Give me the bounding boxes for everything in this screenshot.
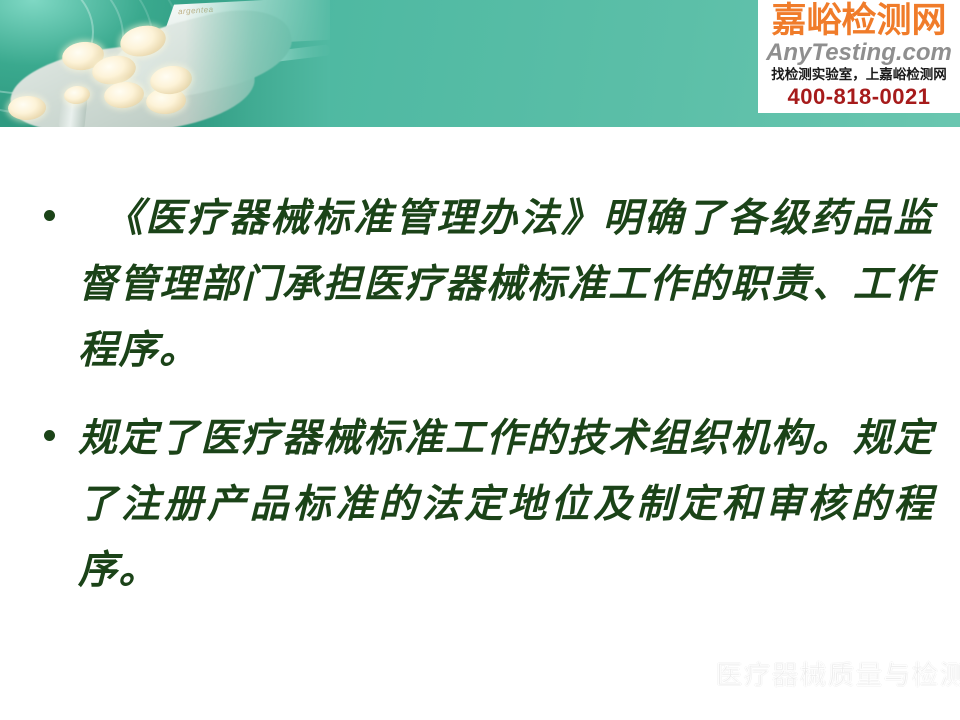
logo-phone-number: 400-818-0021	[758, 85, 960, 109]
logo-tagline: 找检测实验室，上嘉峪检测网	[758, 67, 960, 84]
bullet-list-item: 规定了医疗器械标准工作的技术组织机构。规定了注册产品标准的法定地位及制定和审核的…	[44, 406, 934, 604]
bullet-paragraph-text: 《医疗器械标准管理办法》明确了各级药品监督管理部门承担医疗器械标准工作的职责、工…	[78, 186, 934, 384]
bullet-marker-icon	[44, 406, 78, 446]
bullet-paragraph-text: 规定了医疗器械标准工作的技术组织机构。规定了注册产品标准的法定地位及制定和审核的…	[78, 406, 934, 604]
anytesting-logo-box[interactable]: 嘉峪检测网 AnyTesting.com 找检测实验室，上嘉峪检测网 400-8…	[758, 0, 960, 113]
bullet-marker-icon	[44, 186, 78, 226]
wechat-watermark: 医疗器械质量与检测	[662, 655, 960, 692]
slide-canvas: argentea 嘉峪检测网 AnyTesting.com 找检测实验室，上嘉峪…	[0, 0, 960, 720]
logo-english-name: AnyTesting.com	[758, 40, 960, 65]
photo-gradient-fade	[185, 0, 330, 127]
watermark-label: 医疗器械质量与检测	[716, 655, 960, 692]
logo-chinese-name: 嘉峪检测网	[758, 3, 960, 40]
slide-body-content: 《医疗器械标准管理办法》明确了各级药品监督管理部门承担医疗器械标准工作的职责、工…	[44, 186, 934, 626]
operating-lamp-photo: argentea	[0, 0, 330, 127]
slide-header-banner: argentea 嘉峪检测网 AnyTesting.com 找检测实验室，上嘉峪…	[0, 0, 960, 127]
wechat-icon	[662, 657, 706, 691]
bullet-list-item: 《医疗器械标准管理办法》明确了各级药品监督管理部门承担医疗器械标准工作的职责、工…	[44, 186, 934, 384]
